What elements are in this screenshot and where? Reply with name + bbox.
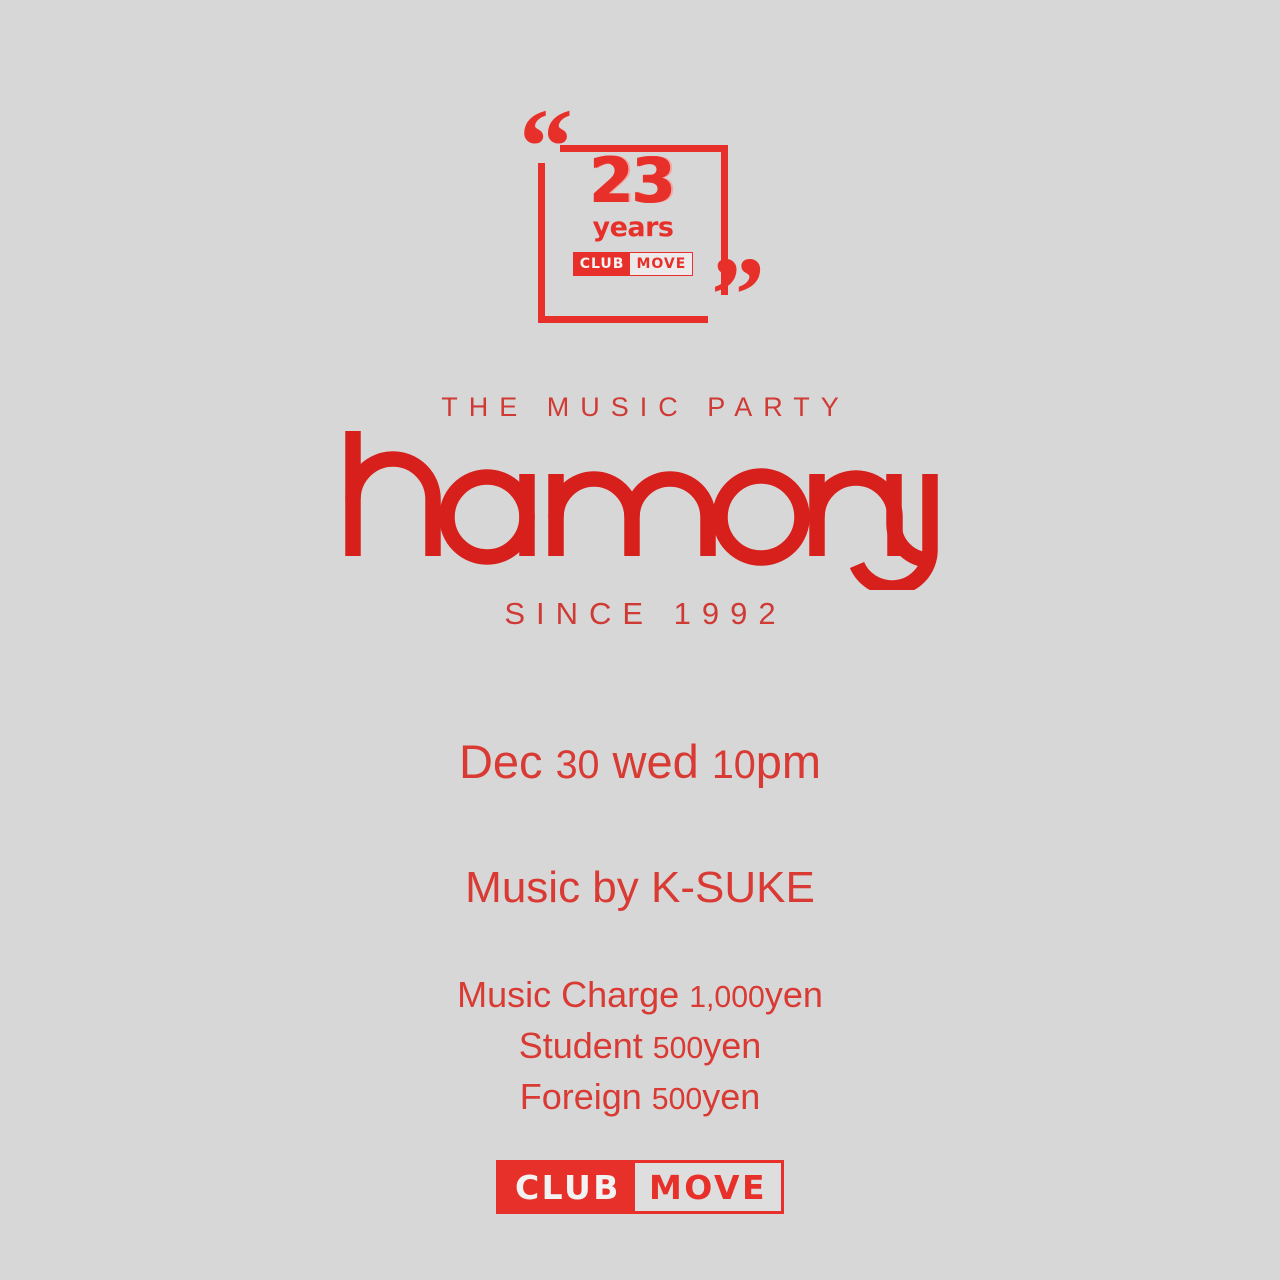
price-list: Music Charge 1,000yen Student 500yen For… (0, 969, 1280, 1122)
event-details: Dec 30 wed 10pm Music by K-SUKE Music Ch… (0, 736, 1280, 1122)
badge-content: 23 years CLUB MOVE (545, 152, 721, 276)
price-currency: yen (765, 974, 823, 1015)
harmony-wordmark-svg (340, 425, 940, 590)
footer-logo-wrap: CLUB MOVE (0, 1160, 1280, 1214)
anniversary-word: years (545, 213, 721, 243)
badge-club-move-logo: CLUB MOVE (573, 252, 694, 276)
price-label: Foreign (520, 1076, 652, 1117)
price-row: Foreign 500yen (0, 1071, 1280, 1122)
price-label: Student (519, 1025, 653, 1066)
club-move-logo: CLUB MOVE (496, 1160, 784, 1214)
badge-logo-club-text: CLUB (574, 253, 631, 275)
event-time-hour: 10 (712, 743, 756, 787)
anniversary-number: 23 (545, 152, 721, 211)
price-currency: yen (703, 1025, 761, 1066)
anniversary-badge-inner: “ ” 23 years CLUB MOVE (500, 118, 780, 358)
price-currency: yen (702, 1076, 760, 1117)
price-amount: 500 (653, 1032, 703, 1065)
tagline-since-1992: SINCE 1992 (0, 596, 1280, 632)
price-row: Student 500yen (0, 1020, 1280, 1071)
tagline-the-music-party: THE MUSIC PARTY (0, 392, 1280, 423)
anniversary-badge: “ ” 23 years CLUB MOVE (0, 118, 1280, 358)
event-time-suffix: pm (756, 735, 821, 788)
badge-frame-bottom-edge (538, 316, 708, 323)
price-amount: 500 (652, 1083, 702, 1116)
event-date-line: Dec 30 wed 10pm (0, 736, 1280, 788)
event-date-prefix: Dec (459, 735, 556, 788)
event-date-day: 30 (556, 743, 600, 787)
price-row: Music Charge 1,000yen (0, 969, 1280, 1020)
event-date-weekday: wed (600, 735, 712, 788)
harmony-logo-block: THE MUSIC PARTY (0, 392, 1280, 632)
price-amount: 1,000 (689, 981, 765, 1014)
poster-canvas: “ ” 23 years CLUB MOVE THE MUSIC PARTY (0, 0, 1280, 1280)
footer-logo-club-text: CLUB (499, 1163, 635, 1211)
event-dj-line: Music by K-SUKE (0, 864, 1280, 912)
footer-logo-move-text: MOVE (635, 1163, 781, 1211)
price-label: Music Charge (457, 974, 689, 1015)
harmony-wordmark (0, 425, 1280, 590)
badge-logo-move-text: MOVE (630, 253, 692, 275)
